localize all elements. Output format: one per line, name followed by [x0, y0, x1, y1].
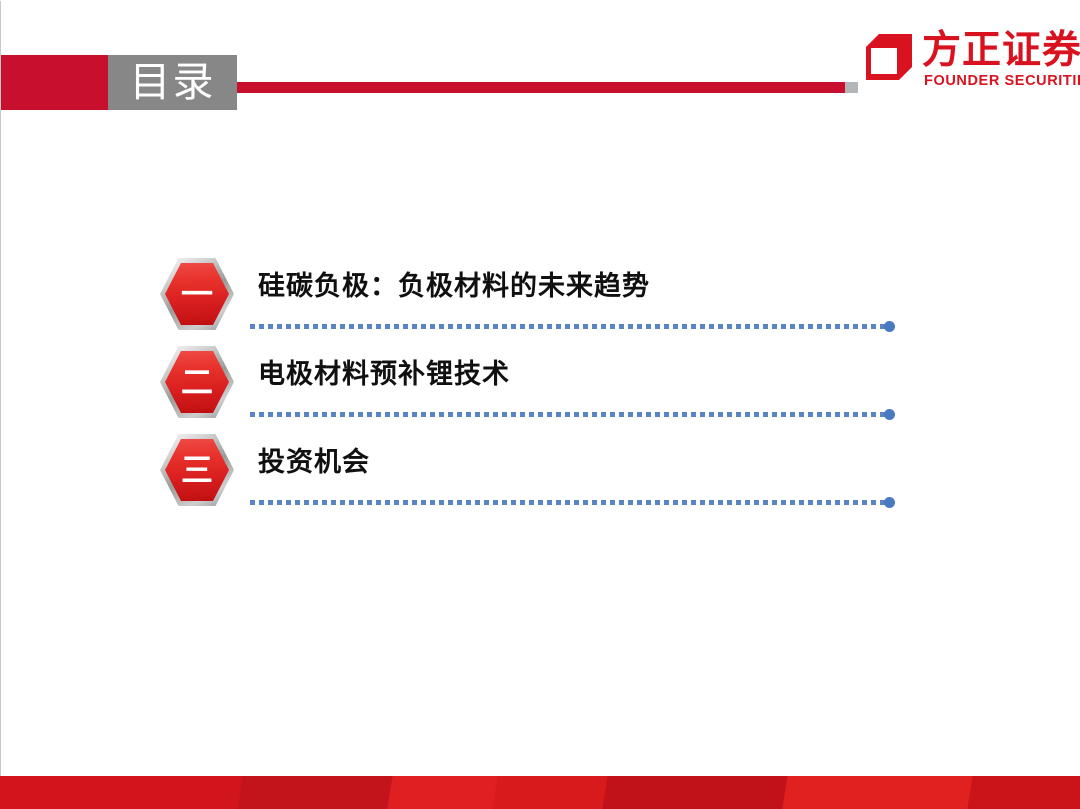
footer-segment — [782, 776, 972, 809]
toc-item[interactable]: 一 硅碳负极：负极材料的未来趋势 — [0, 256, 1080, 344]
toc-item-label[interactable]: 投资机会 — [258, 446, 370, 478]
footer-segment — [237, 776, 392, 809]
toc-item[interactable]: 三 投资机会 — [0, 432, 1080, 520]
toc-item[interactable]: 二 电极材料预补锂技术 — [0, 344, 1080, 432]
footer-segment — [967, 776, 1080, 809]
table-of-contents: 一 硅碳负极：负极材料的未来趋势 二 电极材料预补锂技术 三 投资机会 — [0, 0, 1080, 809]
footer-band — [0, 776, 1080, 809]
footer-segment — [602, 776, 787, 809]
toc-leader-end-dot — [884, 409, 895, 420]
toc-item-label[interactable]: 硅碳负极：负极材料的未来趋势 — [258, 270, 650, 302]
footer-segment — [492, 776, 607, 809]
footer-segment — [0, 776, 243, 809]
footer-segment — [387, 776, 497, 809]
toc-item-label[interactable]: 电极材料预补锂技术 — [258, 358, 510, 390]
slide-canvas: 目录 方正证券 FOUNDER SECURITIES 一 硅碳负极：负极材料的未… — [0, 0, 1080, 809]
toc-number-badge: 一 — [160, 258, 234, 330]
toc-number-label: 三 — [165, 439, 229, 501]
toc-number-badge: 三 — [160, 434, 234, 506]
toc-number-label: 二 — [165, 351, 229, 413]
toc-leader-dots — [250, 324, 890, 329]
toc-leader-end-dot — [884, 497, 895, 508]
toc-number-badge: 二 — [160, 346, 234, 418]
toc-number-label: 一 — [165, 263, 229, 325]
toc-leader-end-dot — [884, 321, 895, 332]
toc-leader-dots — [250, 412, 890, 417]
toc-leader-dots — [250, 500, 890, 505]
